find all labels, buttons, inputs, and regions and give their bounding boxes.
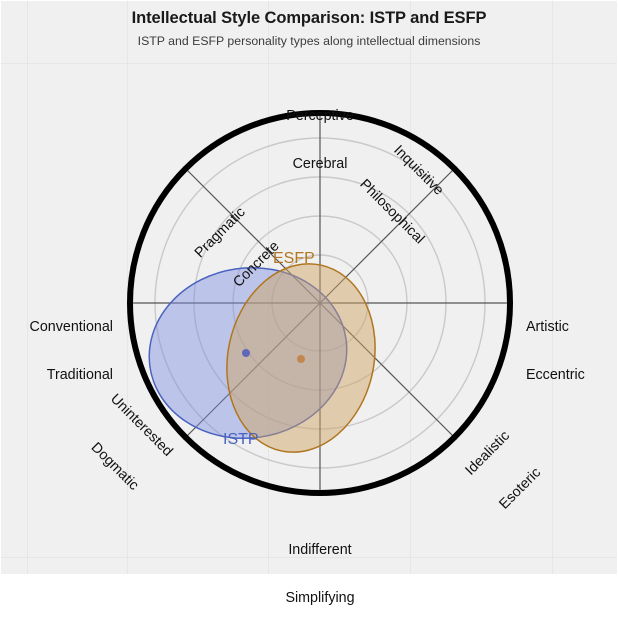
radar-plot-canvas — [1, 1, 618, 576]
axis-label-line2: Simplifying — [285, 590, 354, 606]
chart-figure: Intellectual Style Comparison: ISTP and … — [0, 0, 618, 575]
centroid-marker-istp — [242, 349, 250, 357]
centroid-marker-esfp — [297, 355, 305, 363]
